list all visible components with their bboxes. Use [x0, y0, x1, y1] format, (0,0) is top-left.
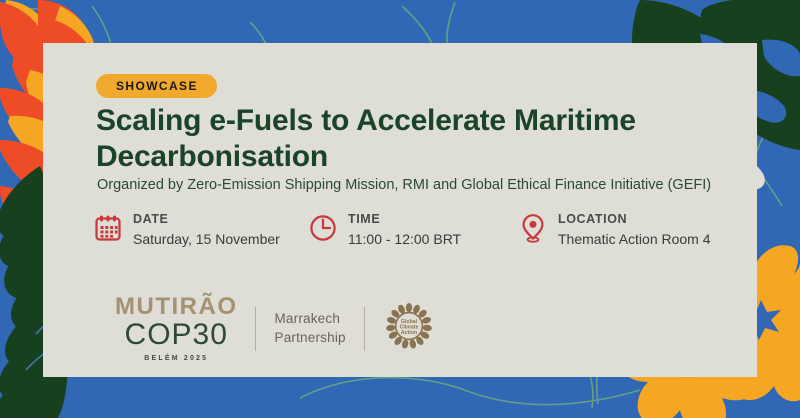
- logo-strip: MUTIRÃO COP30 BELÉM 2025 Marrakech Partn…: [115, 295, 433, 362]
- event-title: Scaling e-Fuels to Accelerate Maritime D…: [96, 103, 736, 175]
- location-pin-icon: [518, 208, 548, 246]
- marrakech-partnership-logo: Marrakech Partnership: [274, 310, 345, 346]
- detail-time: TIME 11:00 - 12:00 BRT: [308, 208, 518, 249]
- detail-location-label: LOCATION: [558, 212, 711, 228]
- seal-line-3: Action: [401, 330, 417, 336]
- detail-time-value: 11:00 - 12:00 BRT: [348, 230, 461, 249]
- detail-location-text: LOCATION Thematic Action Room 4: [558, 208, 711, 249]
- detail-date-value: Saturday, 15 November: [133, 230, 280, 249]
- event-details: DATE Saturday, 15 November TIME 11:00 - …: [93, 208, 753, 249]
- marrakech-line-1: Marrakech: [274, 310, 345, 328]
- marrakech-line-2: Partnership: [274, 329, 345, 347]
- event-title-line-1: Scaling e-Fuels to Accelerate Maritime: [96, 103, 736, 139]
- organizer-line: Organized by Zero-Emission Shipping Miss…: [97, 176, 711, 195]
- belem-2025-label: BELÉM 2025: [115, 355, 237, 362]
- seal-divider: [364, 307, 365, 351]
- event-title-line-2: Decarbonisation: [96, 139, 736, 175]
- clock-icon: [308, 208, 338, 246]
- calendar-icon: [93, 208, 123, 246]
- cop30-wordmark: COP30: [115, 320, 237, 350]
- detail-date-label: DATE: [133, 212, 280, 228]
- detail-time-label: TIME: [348, 212, 461, 228]
- detail-location: LOCATION Thematic Action Room 4: [518, 208, 748, 249]
- detail-location-value: Thematic Action Room 4: [558, 230, 711, 249]
- mutirao-wordmark: MUTIRÃO: [115, 295, 237, 319]
- logo-divider: [255, 307, 256, 351]
- showcase-badge: SHOWCASE: [96, 74, 217, 98]
- cop30-logo: MUTIRÃO COP30 BELÉM 2025: [115, 295, 237, 362]
- detail-date: DATE Saturday, 15 November: [93, 208, 308, 249]
- detail-date-text: DATE Saturday, 15 November: [133, 208, 280, 249]
- global-climate-action-seal: Global Climate Action: [385, 302, 433, 355]
- detail-time-text: TIME 11:00 - 12:00 BRT: [348, 208, 461, 249]
- content-card: SHOWCASE Scaling e-Fuels to Accelerate M…: [43, 43, 757, 377]
- event-poster: SHOWCASE Scaling e-Fuels to Accelerate M…: [0, 0, 800, 418]
